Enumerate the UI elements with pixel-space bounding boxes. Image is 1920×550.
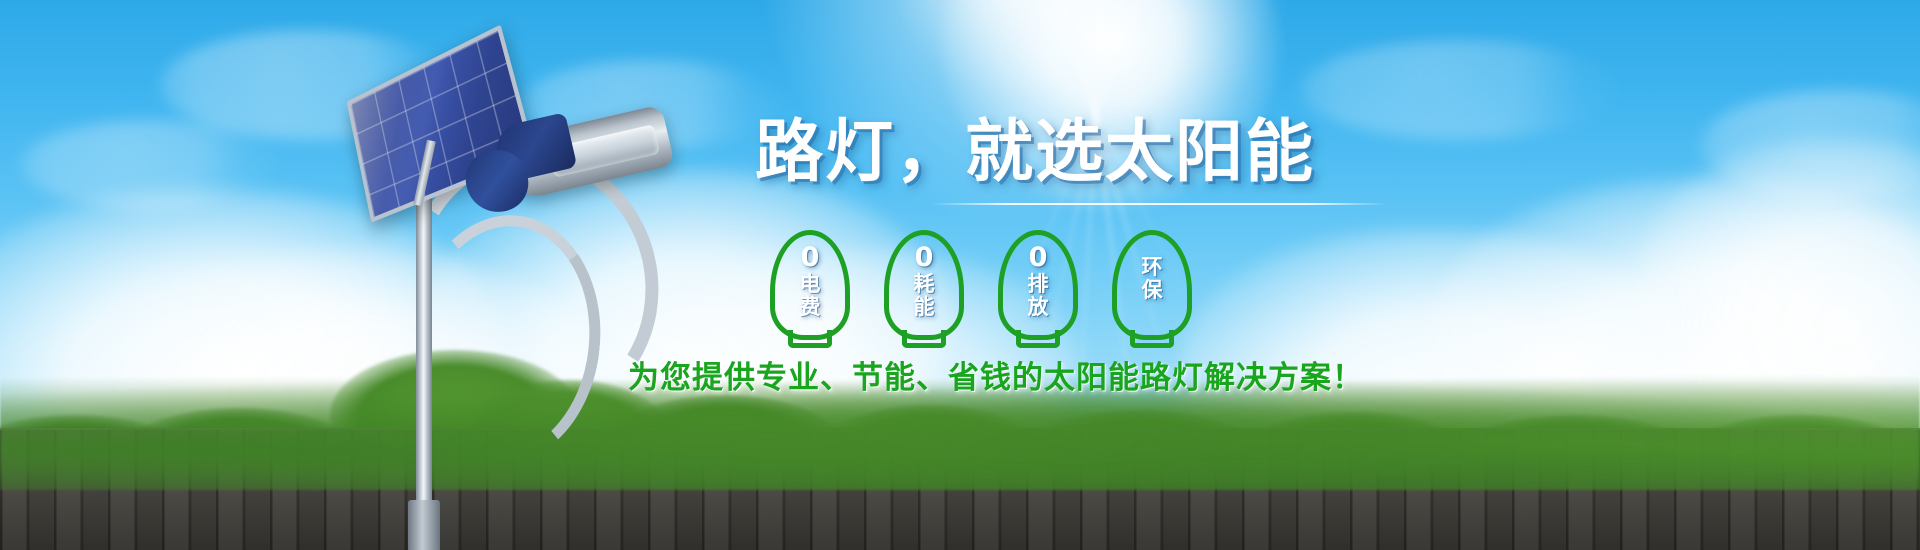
divider-rule: [930, 203, 1388, 205]
feature-badge: 0 耗能: [884, 230, 964, 340]
badge-label: 环保: [1142, 256, 1163, 301]
solar-street-lamp-banner: 路灯，就选太阳能 0 电费 0 耗能 0 排放 环保: [0, 0, 1920, 550]
badge-zero: 0: [801, 244, 820, 271]
feature-badge: 0 排放: [998, 230, 1078, 340]
badge-label: 耗能: [914, 273, 935, 318]
badge-zero: 0: [1029, 244, 1048, 271]
badge-zero: 0: [915, 244, 934, 271]
feature-badge: 0 电费: [770, 230, 850, 340]
badge-label: 电费: [800, 273, 821, 318]
headline: 路灯，就选太阳能: [755, 96, 1315, 195]
badge-label: 排放: [1028, 273, 1049, 318]
feature-badge-list: 0 电费 0 耗能 0 排放 环保: [770, 230, 1230, 340]
feature-badge: 环保: [1112, 230, 1192, 340]
banner-copy: 路灯，就选太阳能 0 电费 0 耗能 0 排放 环保: [0, 0, 1920, 550]
tagline: 为您提供专业、节能、省钱的太阳能路灯解决方案！: [628, 352, 1364, 397]
